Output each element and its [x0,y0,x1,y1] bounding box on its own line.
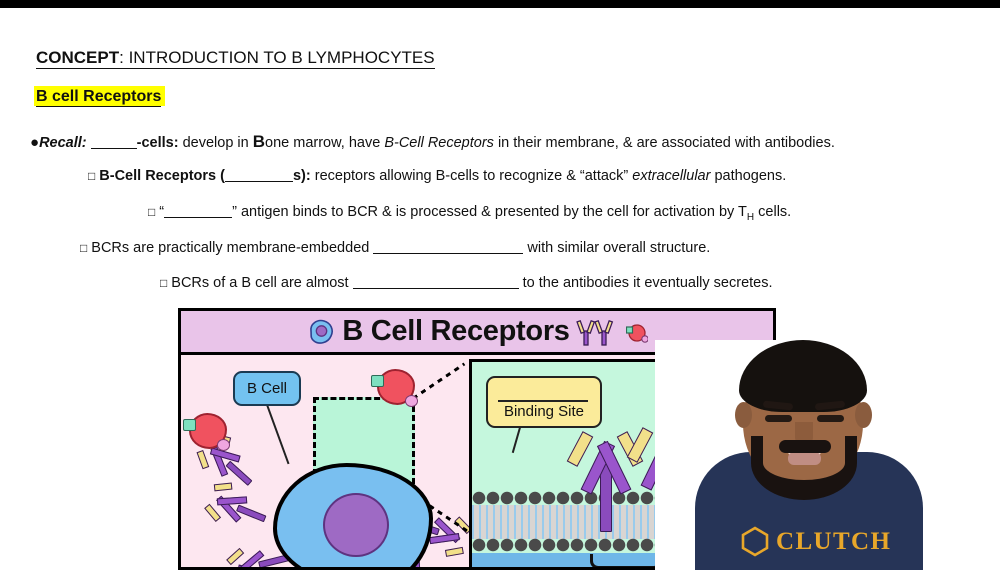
bone-marrow-B: B [253,132,265,151]
slide-canvas: CONCEPT: INTRODUCTION TO B LYMPHOCYTES B… [0,8,1000,562]
concept-prefix: CONCEPT [36,48,119,67]
l1-part-a: develop in [179,135,253,151]
bullet-line-antigen: □ “” antigen binds to BCR & is processed… [148,204,791,224]
binding-site-callout: Binding Site [486,376,602,428]
l5-text-a: BCRs of a B cell are almost [171,275,352,291]
yellow-highlight: B cell Receptors [34,86,165,106]
b-cell-leader-line [265,402,289,465]
l5-text-b: to the antibodies it eventually secretes… [519,275,773,291]
binding-site-blank [498,400,588,402]
pathogen-icon [626,320,648,344]
bullet-line-recall: ●Recall: -cells: develop in Bone marrow,… [30,132,835,152]
b-cell-nucleus [323,493,389,557]
l2-rest-b: pathogens. [710,168,786,184]
square-bullet-icon: □ [148,205,155,219]
concept-heading: CONCEPT: INTRODUCTION TO B LYMPHOCYTES [36,48,435,68]
bullet-line-bcr-definition: □ B-Cell Receptors (s): receptors allowi… [88,168,786,185]
l2-bold-b: s): [293,168,311,184]
blank-line [373,253,523,254]
hexagon-icon [741,526,769,557]
bullet-line-membrane-embedded: □ BCRs are practically membrane-embedded… [80,240,710,257]
concept-title: INTRODUCTION TO B LYMPHOCYTES [129,48,435,67]
l3-rest-a: antigen binds to BCR & is processed & pr… [237,204,747,220]
binding-site-label: Binding Site [488,403,600,420]
l4-text-b: with similar overall structure. [523,240,710,256]
eye-right [817,415,844,422]
l2-bold-a: B-Cell Receptors ( [99,168,225,184]
b-cell-callout-label: B Cell [233,371,301,406]
pathogen [377,369,415,405]
l2-rest-a: receptors allowing B-cells to recognize … [311,168,633,184]
bullet-line-antibody-similarity: □ BCRs of a B cell are almost to the ant… [160,275,773,292]
l1-part-b: one marrow, have [265,135,384,151]
page-title: B cell Receptors [34,88,165,106]
figure-title-text: B Cell Receptors [342,315,569,348]
l1-italic-term: B-Cell Receptors [384,135,494,151]
l1-part-c: in their membrane, & are associated with… [494,135,835,151]
l3-rest-b: cells. [754,204,791,220]
binding-site-leader-line [512,424,522,453]
blank-line [91,148,137,149]
receptor [205,478,273,540]
square-bullet-icon: □ [88,169,95,183]
mustache [779,440,831,453]
square-bullet-icon: □ [160,276,167,290]
b-cell-callout-text: B Cell [247,380,287,397]
pathogen [189,413,227,449]
antibody-pair-icon [576,317,620,347]
l2-italic-term: extracellular [632,168,710,184]
eye-left [765,415,792,422]
concept-separator: : [119,48,128,67]
page-title-text: B cell Receptors [36,88,161,107]
square-bullet-icon: □ [80,241,87,255]
mouth [788,452,821,465]
instructor-webcam: CLUTCH [655,340,1000,570]
blank-line [164,217,232,218]
shirt-brand-text: CLUTCH [776,528,891,556]
l4-text-a: BCRs are practically membrane-embedded [91,240,373,256]
ear-right [855,402,872,428]
bullet-dot-icon: ● [30,134,39,151]
cells-label: -cells: [137,135,179,151]
ear-left [735,402,752,428]
blank-line [225,181,293,182]
blank-line [353,288,519,289]
top-black-bar [0,0,1000,8]
zoom-connector-top [412,363,465,400]
shirt-logo: CLUTCH [741,526,891,557]
b-cell-icon [306,317,336,347]
recall-label: Recall: [39,135,87,151]
